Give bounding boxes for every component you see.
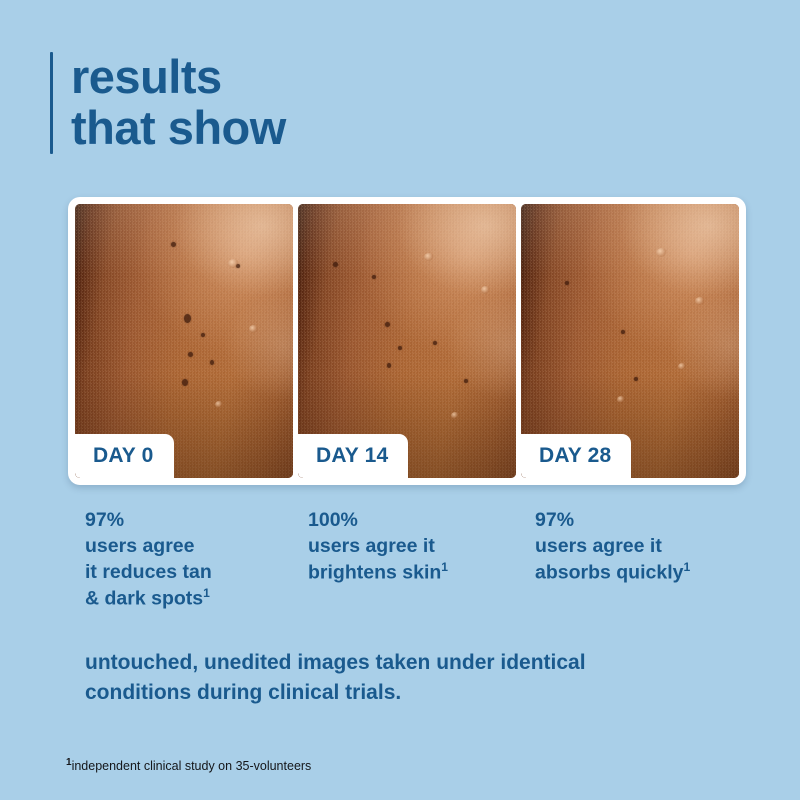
claim-0-line-1: users agree (85, 533, 212, 559)
day-label-badge-0: DAY 0 (75, 434, 174, 478)
claim-0-line-3-text: & dark spots (85, 588, 203, 610)
claim-1-footnote-marker: 1 (441, 560, 448, 574)
disclaimer-note-line-1: untouched, unedited images taken under i… (85, 648, 725, 678)
claims-row: 97% users agree it reduces tan & dark sp… (0, 507, 800, 627)
claim-1-line-2: brightens skin1 (308, 559, 448, 586)
claim-2-percent: 97% (535, 507, 690, 533)
claim-absorbs-quickly: 97% users agree it absorbs quickly1 (535, 507, 690, 586)
before-after-photo-strip: DAY 0 DAY 14 (68, 197, 746, 485)
disclaimer-note: untouched, unedited images taken under i… (85, 648, 725, 708)
claim-2-line-2-text: absorbs quickly (535, 562, 683, 584)
study-footnote: 1independent clinical study on 35-volunt… (66, 757, 311, 774)
claim-1-percent: 100% (308, 507, 448, 533)
claim-0-line-2: it reduces tan (85, 559, 212, 585)
claim-brightens-skin: 100% users agree it brightens skin1 (308, 507, 448, 586)
study-footnote-text: independent clinical study on 35-volunte… (72, 759, 312, 773)
claim-1-line-2-text: brightens skin (308, 562, 441, 584)
claim-reduces-tan: 97% users agree it reduces tan & dark sp… (85, 507, 212, 612)
claim-2-line-2: absorbs quickly1 (535, 559, 690, 586)
claim-0-footnote-marker: 1 (203, 586, 210, 600)
page-title-text: results that show (71, 52, 286, 154)
claim-2-line-1: users agree it (535, 533, 690, 559)
page-title-line-2: that show (71, 103, 286, 154)
photo-card-day-14[interactable]: DAY 14 (298, 204, 516, 478)
claim-0-line-3: & dark spots1 (85, 585, 212, 612)
title-accent-bar (50, 52, 53, 154)
page-title-line-1: results (71, 52, 286, 103)
photo-card-day-28[interactable]: DAY 28 (521, 204, 739, 478)
claim-2-footnote-marker: 1 (683, 560, 690, 574)
claim-1-line-1: users agree it (308, 533, 448, 559)
day-label-badge-28: DAY 28 (521, 434, 631, 478)
results-panel: results that show DAY 0 (0, 0, 800, 800)
disclaimer-note-line-2: conditions during clinical trials. (85, 678, 725, 708)
page-title: results that show (50, 52, 286, 154)
day-label-badge-14: DAY 14 (298, 434, 408, 478)
claim-0-percent: 97% (85, 507, 212, 533)
photo-card-day-0[interactable]: DAY 0 (75, 204, 293, 478)
